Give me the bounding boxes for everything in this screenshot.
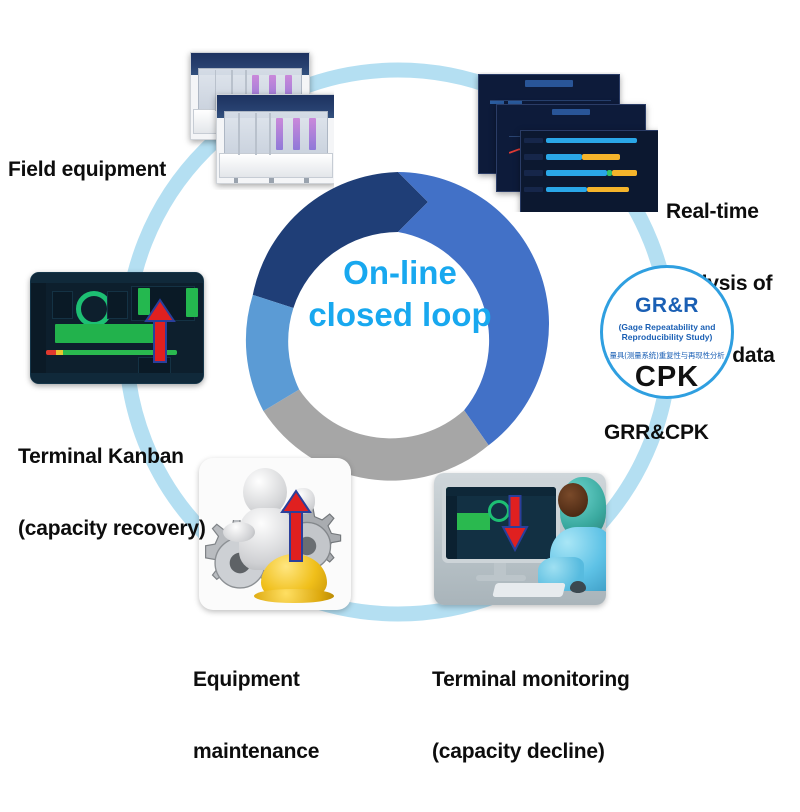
monitor-screen xyxy=(446,487,556,559)
capacity-recovery-arrow xyxy=(145,299,175,363)
label-monitoring-line2: (capacity decline) xyxy=(432,740,630,764)
label-realtime-line1: Real-time xyxy=(666,200,775,224)
dashboard-legend xyxy=(490,91,554,95)
kanban-bottom-bar xyxy=(31,373,203,383)
mouse xyxy=(570,581,586,593)
label-monitoring-line1: Terminal monitoring xyxy=(432,668,630,692)
kanban-sidebar xyxy=(31,283,46,373)
grr-subtitle-line2: Reproducibility Study) xyxy=(611,332,724,343)
dashboard-row-label-1 xyxy=(524,138,543,144)
dashboard-row-label-3 xyxy=(524,170,543,176)
kanban-kpi-1 xyxy=(52,291,73,319)
dashboard-hbar-3c xyxy=(612,170,637,176)
person-hair xyxy=(558,483,588,517)
label-maintenance-line2: maintenance xyxy=(193,740,319,764)
dashboard-row-label-2 xyxy=(524,154,543,160)
diagram-canvas: On-line closed loop xyxy=(0,0,800,684)
monitor-screen-sidebar xyxy=(446,496,457,559)
machine-foot-3 xyxy=(304,178,309,183)
dashboard-front xyxy=(520,130,658,212)
grr-heading: GR&R xyxy=(603,294,731,318)
dashboard-hbar-2a xyxy=(546,154,582,160)
label-maintenance-line1: Equipment xyxy=(193,668,319,692)
dashboard-hbar-1 xyxy=(546,138,637,144)
center-label: On-line closed loop xyxy=(270,252,530,336)
label-terminal-kanban: Terminal Kanban (capacity recovery) xyxy=(18,397,206,589)
kanban-green-bar-2 xyxy=(186,288,198,317)
monitor-stand-base xyxy=(476,575,526,581)
machine-photo-front xyxy=(216,94,334,184)
dashboard-axis xyxy=(490,100,610,101)
monitor-bezel xyxy=(442,483,560,563)
monitor-screen-topbar xyxy=(446,487,556,496)
label-grr-cpk: GRR&CPK xyxy=(604,421,709,445)
kanban-top-bar xyxy=(31,273,203,283)
machine-strut-3 xyxy=(269,113,271,155)
figure-arm-left xyxy=(223,522,255,542)
dashboard-hbar-4b xyxy=(587,187,628,193)
equipment-maintenance-image xyxy=(199,458,351,610)
dashboard-title-bar xyxy=(497,109,645,115)
center-label-line1: On-line xyxy=(270,252,530,294)
capacity-decline-arrow xyxy=(502,495,528,551)
terminal-monitoring-image xyxy=(434,473,606,605)
machine-strut-1 xyxy=(238,113,240,155)
dashboard-title-bar xyxy=(479,80,619,87)
keyboard xyxy=(492,583,565,597)
center-label-line2: closed loop xyxy=(270,294,530,336)
dashboard-hbar-3a xyxy=(546,170,607,176)
kanban-kpi-2 xyxy=(107,291,128,319)
label-terminal-monitoring: Terminal monitoring (capacity decline) xyxy=(432,620,630,812)
machine-glow-2 xyxy=(293,118,300,150)
grr-subtitle: (Gage Repeatability and Reproducibility … xyxy=(611,322,724,343)
label-equipment-maintenance: Equipment maintenance xyxy=(193,620,319,812)
grr-cpk-circle: GR&R (Gage Repeatability and Reproducibi… xyxy=(600,265,734,399)
label-kanban-line1: Terminal Kanban xyxy=(18,445,206,469)
field-equipment-image xyxy=(182,48,334,190)
dashboard-hbar-4a xyxy=(546,187,587,193)
grr-chinese-text: 量具(测量系统)重复性与再现性分析 xyxy=(607,350,727,361)
label-field-equipment: Field equipment xyxy=(8,158,166,182)
machine-strut-2 xyxy=(255,113,257,155)
dashboard-hbar-2b xyxy=(582,154,621,160)
label-kanban-line2: (capacity recovery) xyxy=(18,517,206,541)
realtime-analysis-image xyxy=(472,72,658,212)
machine-foot-2 xyxy=(269,178,274,183)
terminal-kanban-image xyxy=(30,272,204,384)
machine-base xyxy=(219,153,332,178)
machine-glow-3 xyxy=(309,118,316,150)
machine-foot-1 xyxy=(234,178,239,183)
machine-glow-1 xyxy=(276,118,283,150)
cpk-label: CPK xyxy=(603,361,731,394)
grr-subtitle-line1: (Gage Repeatability and xyxy=(611,322,724,333)
dashboard-row-label-4 xyxy=(524,187,543,193)
maintenance-arrow xyxy=(281,490,311,562)
